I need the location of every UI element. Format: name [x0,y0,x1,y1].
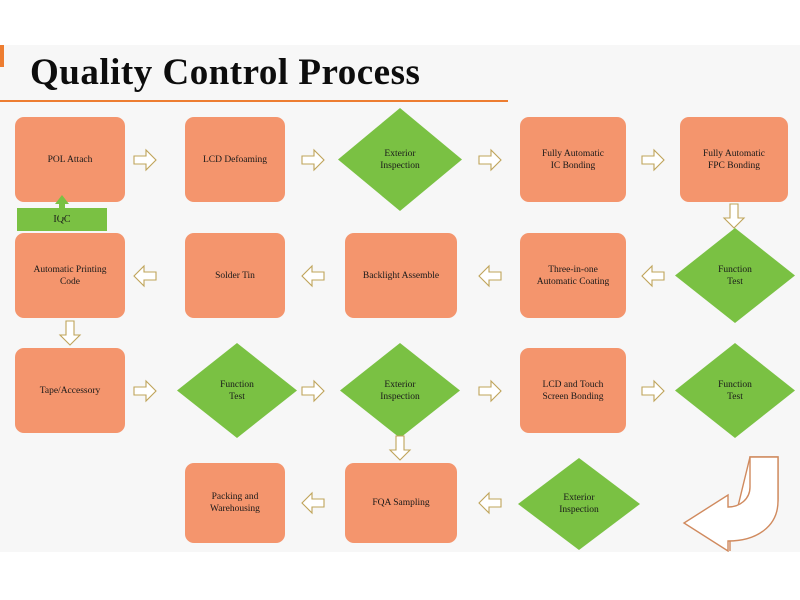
slide-canvas: Quality Control Process POL Attach LCD D… [0,45,800,552]
node-label-line2: Test [229,392,245,402]
node-label-line2: Automatic Coating [537,277,610,287]
node-function-test-3[interactable]: Function Test [675,343,795,438]
left-accent-bar [0,45,4,67]
node-label: Exterior Inspection [372,379,428,403]
node-label-line1: Exterior [384,380,415,390]
node-label: POL Attach [42,154,99,166]
node-label-line2: IC Bonding [551,161,596,171]
node-label-line1: Fully Automatic [703,149,765,159]
node-label-line2: Inspection [559,505,599,515]
connector-arrow-right [641,380,665,402]
connector-arrow-right [301,149,325,171]
connector-arrow-left [478,265,502,287]
node-label: Function Test [710,379,760,403]
connector-arrow-right [301,380,325,402]
node-label: Exterior Inspection [551,492,607,516]
connector-arrow-right [478,380,502,402]
node-lcd-defoaming[interactable]: LCD Defoaming [185,117,285,202]
connector-arrow-left [133,265,157,287]
node-label-line1: Function [220,380,254,390]
connector-arrow-right [641,149,665,171]
node-label: FQA Sampling [366,497,435,509]
node-backlight-assemble[interactable]: Backlight Assemble [345,233,457,318]
node-label-line1: Function [718,265,752,275]
node-label-line1: Fully Automatic [542,149,604,159]
node-three-in-one-automatic-coating[interactable]: Three-in-one Automatic Coating [520,233,626,318]
node-label-line2: Code [60,277,80,287]
node-label: Solder Tin [209,270,261,282]
connector-arrow-down [389,435,411,461]
node-label-line1: Exterior [384,149,415,159]
node-exterior-inspection-2[interactable]: Exterior Inspection [340,343,460,438]
connector-arrow-down [723,203,745,229]
node-automatic-printing-code[interactable]: Automatic Printing Code [15,233,125,318]
connector-arrow-left [301,492,325,514]
node-label: Fully Automatic IC Bonding [536,148,610,172]
node-exterior-inspection-1[interactable]: Exterior Inspection [338,108,462,211]
connector-arrow-bent-down-left [678,453,788,545]
node-label-line2: Inspection [380,392,420,402]
connector-arrow-right [133,380,157,402]
connector-arrow-up-iqc [54,195,70,217]
node-label-line1: Three-in-one [548,265,598,275]
node-label: Exterior Inspection [372,148,428,172]
node-function-test-2[interactable]: Function Test [177,343,297,438]
node-fully-automatic-ic-bonding[interactable]: Fully Automatic IC Bonding [520,117,626,202]
node-label: Tape/Accessory [34,385,107,397]
connector-arrow-right [133,149,157,171]
node-label-line1: Exterior [563,493,594,503]
node-label-line2: Test [727,392,743,402]
node-lcd-and-touch-screen-bonding[interactable]: LCD and Touch Screen Bonding [520,348,626,433]
node-label-line2: FPC Bonding [708,161,760,171]
node-fully-automatic-fpc-bonding[interactable]: Fully Automatic FPC Bonding [680,117,788,202]
connector-arrow-right [478,149,502,171]
node-label: Backlight Assemble [357,270,445,282]
node-label-line2: Warehousing [210,504,260,514]
page-title: Quality Control Process [30,51,420,94]
connector-arrow-left [478,492,502,514]
node-exterior-inspection-3[interactable]: Exterior Inspection [518,458,640,550]
node-solder-tin[interactable]: Solder Tin [185,233,285,318]
node-label: Packing and Warehousing [204,491,266,515]
node-fqa-sampling[interactable]: FQA Sampling [345,463,457,543]
connector-arrow-left [641,265,665,287]
connector-arrow-down [59,320,81,346]
node-label-line1: Function [718,380,752,390]
node-label: Three-in-one Automatic Coating [531,264,616,288]
node-label-line1: LCD and Touch [543,380,604,390]
node-label: Fully Automatic FPC Bonding [697,148,771,172]
node-label-line1: Packing and [212,492,259,502]
node-label: Automatic Printing Code [27,264,112,288]
title-underline [0,100,508,102]
node-label-line2: Screen Bonding [543,392,604,402]
node-label-line2: Inspection [380,161,420,171]
node-label: LCD and Touch Screen Bonding [537,379,610,403]
node-label: Function Test [212,379,262,403]
node-label-line2: Test [727,277,743,287]
node-tape-accessory[interactable]: Tape/Accessory [15,348,125,433]
node-pol-attach[interactable]: POL Attach [15,117,125,202]
node-label: LCD Defoaming [197,154,273,166]
connector-arrow-left [301,265,325,287]
node-packing-and-warehousing[interactable]: Packing and Warehousing [185,463,285,543]
node-function-test-1[interactable]: Function Test [675,228,795,323]
node-label-line1: Automatic Printing [33,265,106,275]
node-label: Function Test [710,264,760,288]
